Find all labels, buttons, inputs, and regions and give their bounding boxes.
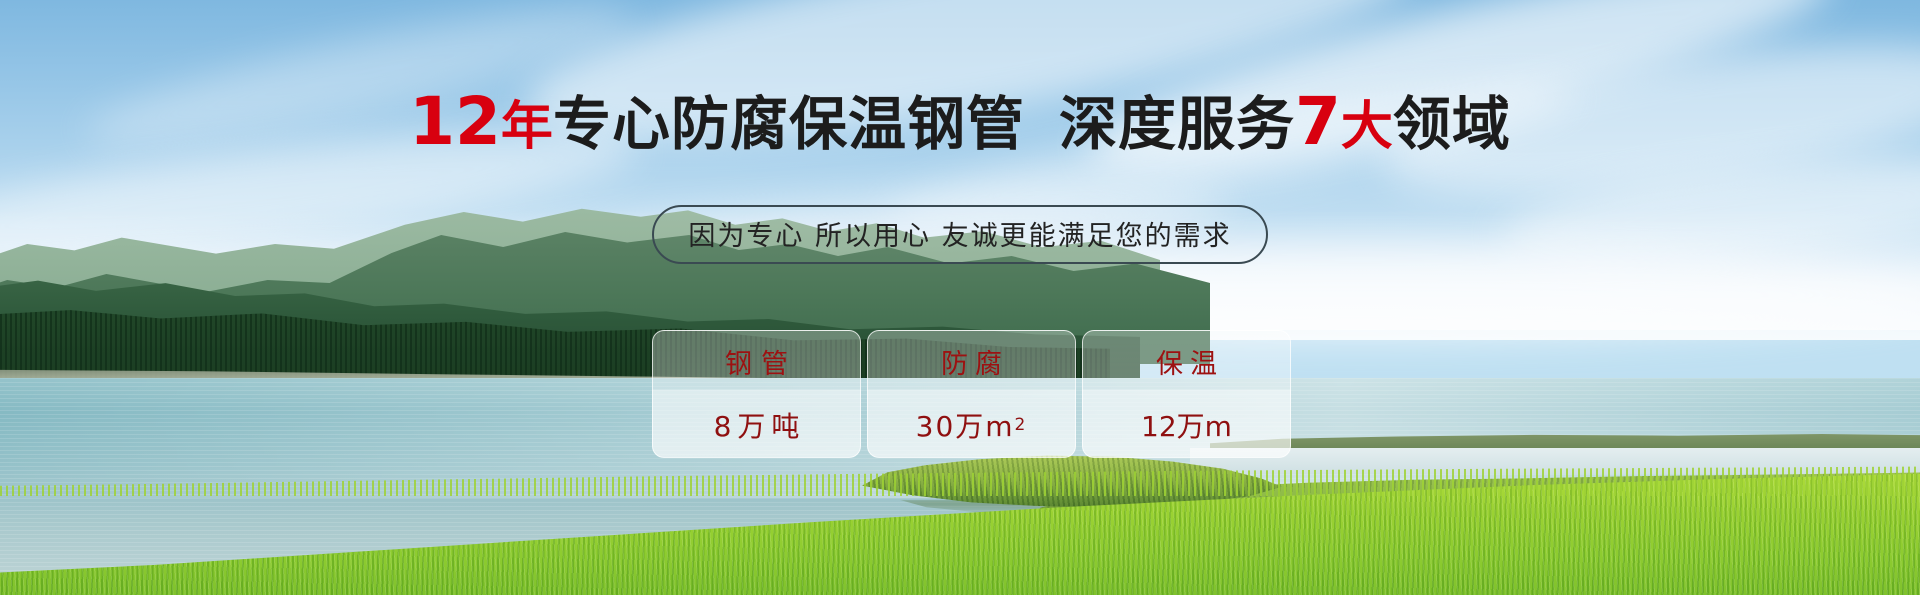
headline-fields-number: 7 bbox=[1295, 83, 1341, 160]
stat-card-value-superscript: 2 bbox=[1015, 415, 1028, 435]
headline-segment-2: 深度服务 bbox=[1059, 90, 1295, 158]
stat-card-value-text: 30万m bbox=[916, 405, 1015, 445]
stat-card-value: 8万吨 bbox=[708, 392, 806, 457]
stat-card-label: 保温 bbox=[1149, 331, 1224, 392]
stat-card-anticorrosion[interactable]: 防腐 30万m2 bbox=[867, 330, 1076, 458]
headline-fields-unit: 大 bbox=[1341, 97, 1393, 157]
promo-banner: 12年专心防腐保温钢管深度服务7大领域 因为专心 所以用心 友诚更能满足您的需求… bbox=[0, 0, 1920, 595]
headline-years-unit: 年 bbox=[501, 97, 553, 157]
subtitle-pill: 因为专心 所以用心 友诚更能满足您的需求 bbox=[652, 205, 1267, 264]
stat-card-value-text: 8万吨 bbox=[708, 405, 806, 445]
stat-card-insulation[interactable]: 保温 12万m bbox=[1082, 330, 1291, 458]
headline: 12年专心防腐保温钢管深度服务7大领域 bbox=[0, 89, 1920, 155]
subtitle-container: 因为专心 所以用心 友诚更能满足您的需求 bbox=[0, 205, 1920, 264]
headline-segment-1: 专心防腐保温钢管 bbox=[553, 90, 1025, 158]
stat-card-label: 钢管 bbox=[716, 331, 797, 392]
stat-card-value: 30万m2 bbox=[916, 392, 1028, 457]
stat-card-label: 防腐 bbox=[934, 331, 1009, 392]
stat-card-value: 12万m bbox=[1141, 392, 1232, 457]
headline-segment-3: 领域 bbox=[1393, 90, 1511, 158]
stat-card-value-text: 12万m bbox=[1141, 405, 1232, 445]
stat-card-steel-pipe[interactable]: 钢管 8万吨 bbox=[652, 330, 861, 458]
headline-years-number: 12 bbox=[409, 83, 501, 160]
stat-cards: 钢管 8万吨 防腐 30万m2 保温 12万m bbox=[652, 330, 1292, 458]
